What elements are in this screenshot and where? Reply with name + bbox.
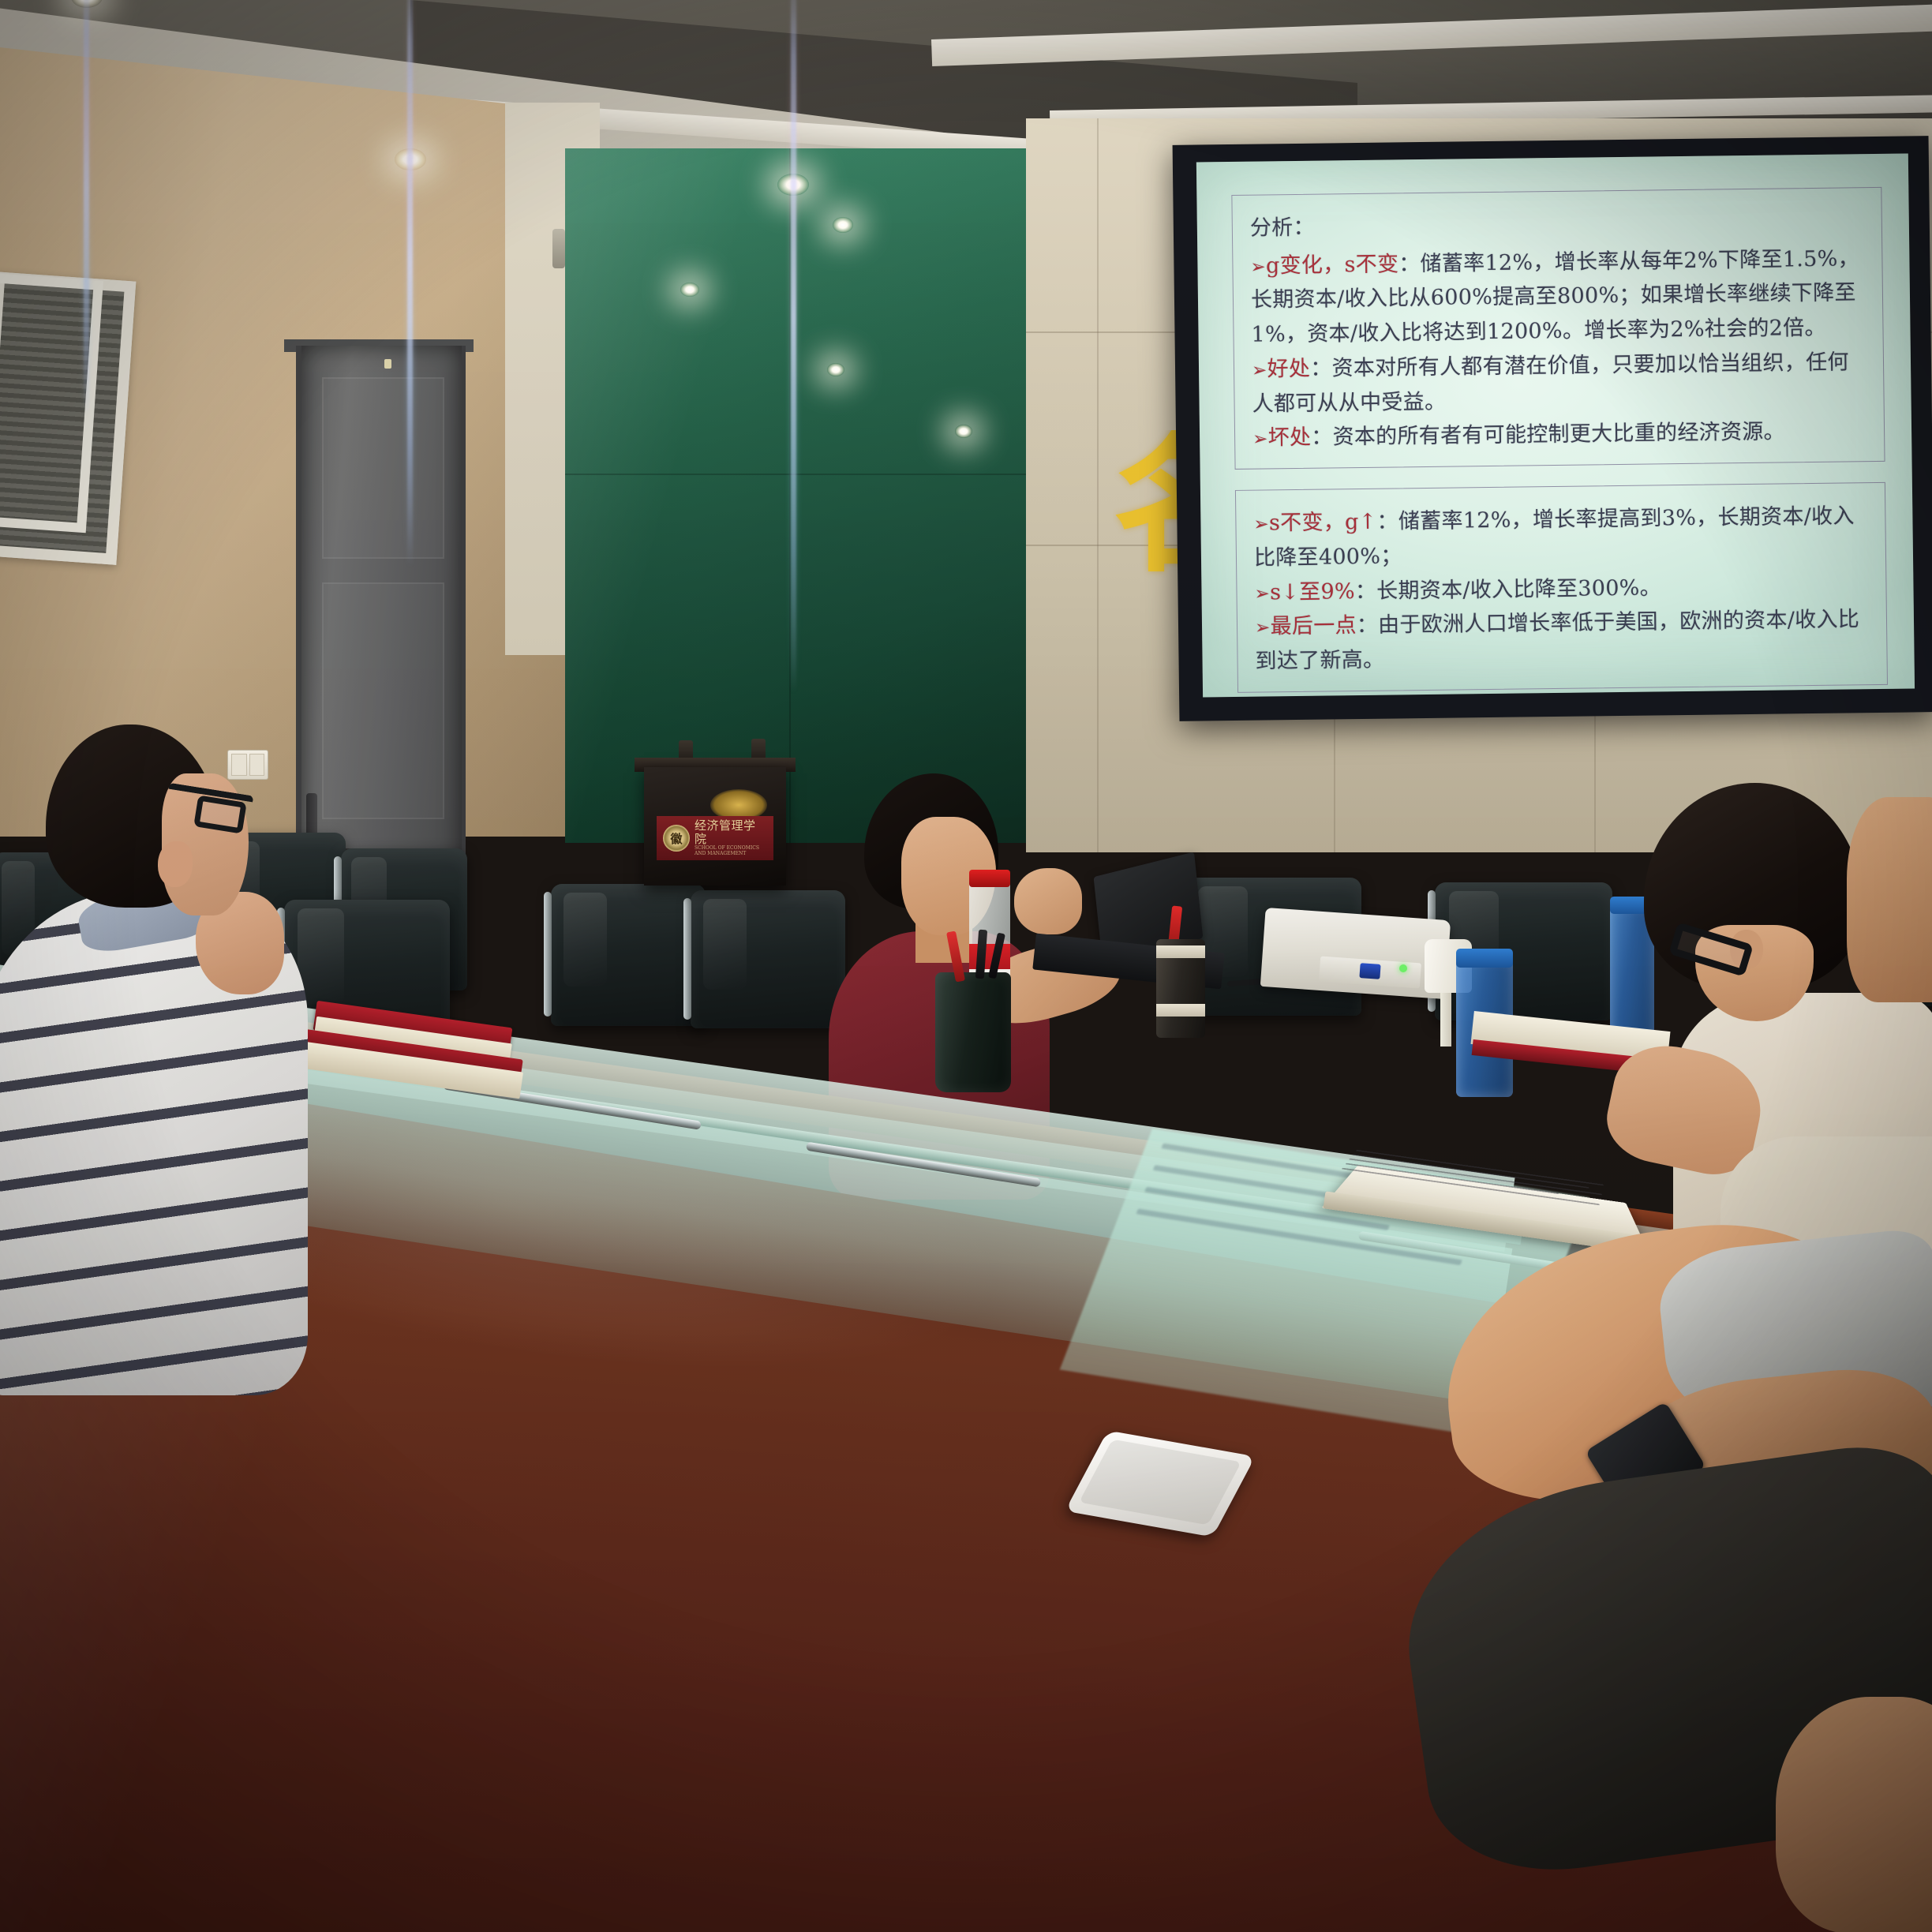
green-panel-seam-1 xyxy=(565,474,1039,475)
light-switch-rocker-2[interactable] xyxy=(249,754,265,776)
projector-power-led-icon xyxy=(1399,964,1407,972)
presenter-hand xyxy=(1014,868,1082,934)
slide-bullet-5-keyword: s↓至9% xyxy=(1270,579,1355,605)
slide-box-2: ➢s不变，g↑：储蓄率12%，增长率提高到3%，长期资本/收入比降至400%； … xyxy=(1235,482,1888,693)
light-switch-rocker-1[interactable] xyxy=(231,754,247,776)
ceiling-spotlight-6 xyxy=(827,363,844,376)
projection-screen: 分析： ➢g变化，s不变：储蓄率12%，增长率从每年2%下降至1.5%，长期资本… xyxy=(1173,136,1932,721)
meeting-room-photo: 名 分析： ➢g变化，s不变：储蓄率12%，增长率从每年2%下降至1.5%，长期… xyxy=(0,0,1932,1932)
slide-bullet-6: ➢最后一点：由于欧洲人口增长率低于美国，欧洲的资本/收入比到达了新高。 xyxy=(1255,602,1873,679)
bullet-marker: ➢ xyxy=(1252,429,1268,450)
lectern-banner: 徽 经济管理学院 SCHOOL OF ECONOMICS AND MANAGEM… xyxy=(657,816,773,860)
ceiling-spotlight-4 xyxy=(833,217,853,233)
lens-flare-streak-1 xyxy=(407,0,413,568)
blue-bottle-cap-1 xyxy=(1456,949,1513,968)
cup-stem xyxy=(1440,985,1451,1046)
lectern-banner-main: 经济管理学院 xyxy=(695,818,756,846)
slide-bullet-4: ➢s不变，g↑：储蓄率12%，增长率提高到3%，长期资本/收入比降至400%； xyxy=(1253,499,1871,575)
slide-bullet-2-keyword: 好处 xyxy=(1267,357,1310,382)
slide-bullet-2-text: ：资本对所有人都有潜在价值，只要加以恰当组织，任何人都可从从中受益。 xyxy=(1252,350,1848,416)
slide-bullet-1: ➢g变化，s不变：储蓄率12%，增长率从每年2%下降至1.5%，长期资本/收入比… xyxy=(1250,241,1869,353)
slide-box-1: 分析： ➢g变化，s不变：储蓄率12%，增长率从每年2%下降至1.5%，长期资本… xyxy=(1231,187,1885,470)
left-man-ear xyxy=(158,841,193,887)
projector-vga-port[interactable] xyxy=(1359,963,1380,979)
far-right-person-partial xyxy=(1847,797,1932,1002)
slide-bullet-6-keyword: 最后一点 xyxy=(1270,613,1357,638)
lectern-banner-text: 经济管理学院 SCHOOL OF ECONOMICS AND MANAGEMEN… xyxy=(695,819,767,857)
slide-bullet-3: ➢坏处：资本的所有者有可能控制更大比重的经济资源。 xyxy=(1252,414,1870,456)
thermos-band-bottom xyxy=(1156,1004,1205,1017)
bullet-marker: ➢ xyxy=(1252,360,1267,380)
door[interactable] xyxy=(296,346,466,867)
door-peephole xyxy=(384,359,391,369)
ceiling-spotlight-7 xyxy=(955,425,972,438)
thermos-band-top xyxy=(1156,945,1205,958)
door-panel-lower xyxy=(322,582,444,819)
light-switch-plate[interactable] xyxy=(227,750,268,780)
slide-bullet-4-keyword: s不变，g↑ xyxy=(1269,510,1377,536)
lectern-logo-icon: 徽 xyxy=(663,825,690,852)
slide-bullet-3-keyword: 坏处 xyxy=(1268,425,1312,451)
wall-mount-bracket xyxy=(552,229,565,268)
bullet-marker: ➢ xyxy=(1254,583,1270,604)
lens-flare-streak-2 xyxy=(791,0,796,695)
bullet-marker: ➢ xyxy=(1253,515,1269,535)
slide-bullet-1-keyword: g变化，s不变 xyxy=(1266,252,1399,278)
slide-bullet-3-text: ：资本的所有者有可能控制更大比重的经济资源。 xyxy=(1311,420,1785,450)
chair-mid-2[interactable] xyxy=(551,884,706,1026)
stone-joint-5 xyxy=(1594,695,1596,852)
door-panel-upper xyxy=(322,377,444,559)
ceiling-spotlight-5 xyxy=(680,283,699,297)
bullet-marker: ➢ xyxy=(1255,618,1271,638)
slide-bullet-5-text: ：长期资本/收入比降至300%。 xyxy=(1355,575,1661,604)
projected-slide: 分析： ➢g变化，s不变：储蓄率12%，增长率从每年2%下降至1.5%，长期资本… xyxy=(1196,153,1915,697)
slide-bullet-2: ➢好处：资本对所有人都有潜在价值，只要加以恰当组织，任何人都可从从中受益。 xyxy=(1252,345,1870,421)
pen-holder-center[interactable] xyxy=(935,972,1011,1092)
bottle-cap-red xyxy=(969,870,1010,887)
lectern-banner-sub: SCHOOL OF ECONOMICS AND MANAGEMENT xyxy=(695,846,767,857)
wall-green-gloss xyxy=(565,148,1039,843)
lens-flare-streak-3 xyxy=(84,0,89,418)
chair-mid-3[interactable] xyxy=(691,890,845,1028)
bullet-marker: ➢ xyxy=(1250,256,1266,277)
slide-heading: 分析： xyxy=(1250,204,1867,245)
projector[interactable] xyxy=(1260,908,1451,999)
stone-joint-3 xyxy=(1097,118,1099,852)
